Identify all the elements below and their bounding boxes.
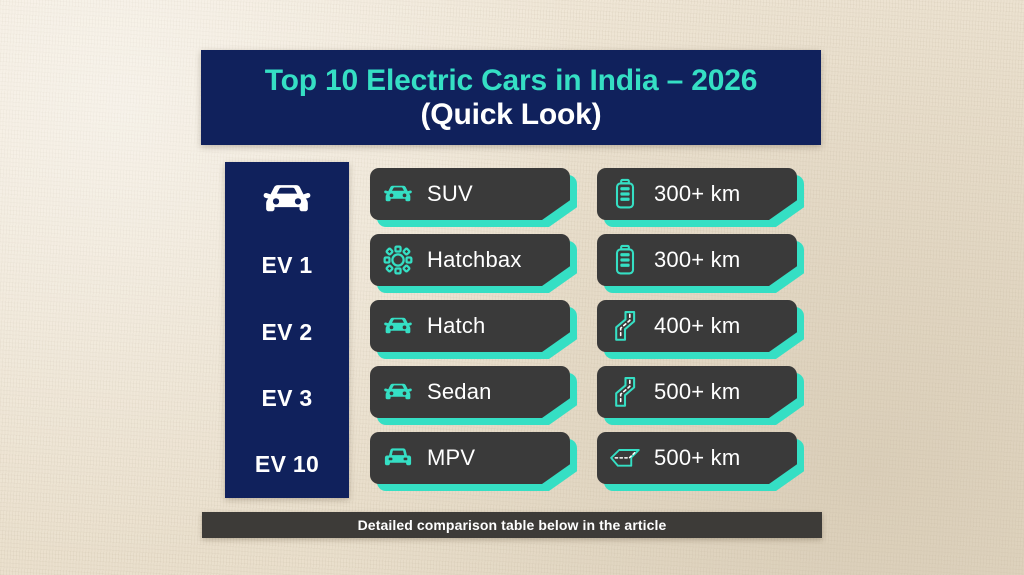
range-label: 400+ km xyxy=(654,313,740,339)
body-type-label: Hatchbax xyxy=(427,247,522,273)
road-vertical-icon xyxy=(608,375,642,409)
page-title: Top 10 Electric Cars in India – 2026 xyxy=(265,64,757,98)
card-face: 300+ km xyxy=(597,234,797,286)
card-face: MPV xyxy=(370,432,570,484)
rail-item-ev1: EV 1 xyxy=(225,232,349,298)
footer-note-text: Detailed comparison table below in the a… xyxy=(358,517,667,533)
battery-icon xyxy=(608,243,642,277)
range-card-2[interactable]: 300+ km xyxy=(597,234,797,286)
gear-icon xyxy=(381,243,415,277)
card-face: Hatchbax xyxy=(370,234,570,286)
road-vertical-icon xyxy=(608,309,642,343)
body-type-column: SUV xyxy=(370,168,570,498)
van-icon xyxy=(381,441,415,475)
card-face: 500+ km xyxy=(597,366,797,418)
body-type-card-mpv[interactable]: MPV xyxy=(370,432,570,484)
range-label: 300+ km xyxy=(654,247,740,273)
road-horizontal-icon xyxy=(608,441,642,475)
card-face: SUV xyxy=(370,168,570,220)
rail-item-ev3: EV 3 xyxy=(225,365,349,431)
ev-rank-rail: EV 1 EV 2 EV 3 EV 10 xyxy=(225,162,349,498)
range-label: 500+ km xyxy=(654,445,740,471)
range-column: 300+ km xyxy=(597,168,797,498)
range-card-1[interactable]: 300+ km xyxy=(597,168,797,220)
infographic-canvas: Top 10 Electric Cars in India – 2026 (Qu… xyxy=(0,0,1024,575)
body-type-card-suv[interactable]: SUV xyxy=(370,168,570,220)
card-face: Sedan xyxy=(370,366,570,418)
rail-item-ev10: EV 10 xyxy=(225,432,349,498)
rail-item-ev2: EV 2 xyxy=(225,299,349,365)
footer-note-bar: Detailed comparison table below in the a… xyxy=(202,512,822,538)
range-card-5[interactable]: 500+ km xyxy=(597,432,797,484)
body-type-label: MPV xyxy=(427,445,475,471)
range-label: 500+ km xyxy=(654,379,740,405)
body-type-label: SUV xyxy=(427,181,473,207)
range-card-3[interactable]: 400+ km xyxy=(597,300,797,352)
body-type-label: Hatch xyxy=(427,313,485,339)
body-type-card-sedan[interactable]: Sedan xyxy=(370,366,570,418)
page-subtitle: (Quick Look) xyxy=(421,98,602,132)
car-front-icon xyxy=(381,177,415,211)
card-face: 400+ km xyxy=(597,300,797,352)
body-type-card-hatch[interactable]: Hatch xyxy=(370,300,570,352)
card-face: 500+ km xyxy=(597,432,797,484)
body-type-card-hatchbax[interactable]: Hatchbax xyxy=(370,234,570,286)
range-label: 300+ km xyxy=(654,181,740,207)
card-face: 300+ km xyxy=(597,168,797,220)
card-face: Hatch xyxy=(370,300,570,352)
range-card-4[interactable]: 500+ km xyxy=(597,366,797,418)
car-front-icon xyxy=(381,375,415,409)
battery-icon xyxy=(608,177,642,211)
title-banner: Top 10 Electric Cars in India – 2026 (Qu… xyxy=(201,50,821,145)
car-front-icon xyxy=(381,309,415,343)
rail-header-icon-cell xyxy=(225,162,349,232)
car-front-icon xyxy=(260,182,314,216)
body-type-label: Sedan xyxy=(427,379,492,405)
